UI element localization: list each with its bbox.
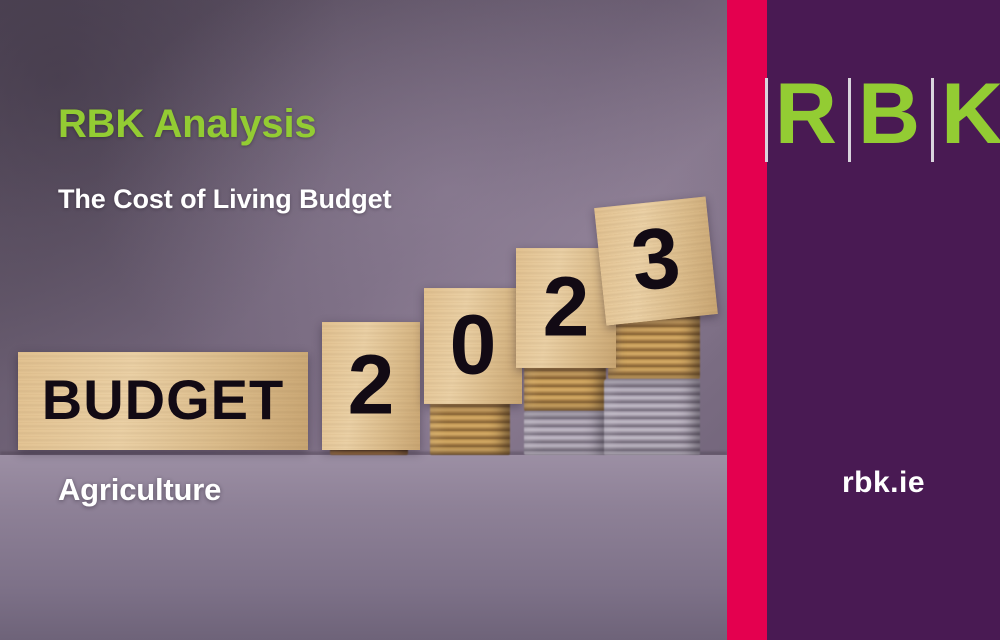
rbk-logo: R B K xyxy=(767,74,1000,156)
rbk-logo-letter-r: R xyxy=(765,74,836,156)
marketing-banner: BUDGET 2 0 2 3 RBK Analysis The Cost of … xyxy=(0,0,1000,640)
wooden-block-year-digit-4: 3 xyxy=(594,196,718,325)
brand-panel: R B K rbk.ie xyxy=(767,0,1000,640)
brand-website-url: rbk.ie xyxy=(767,466,1000,500)
wooden-block-year-digit-2: 0 xyxy=(424,288,522,404)
rbk-logo-letter-k: K xyxy=(931,74,1000,156)
wooden-block-budget: BUDGET xyxy=(18,352,308,450)
coin-stack-4-silver xyxy=(604,379,700,455)
wooden-block-year-digit-1: 2 xyxy=(322,322,420,450)
subheadline: The Cost of Living Budget xyxy=(58,186,391,213)
budget-photo: BUDGET 2 0 2 3 RBK Analysis The Cost of … xyxy=(0,0,727,640)
sector-label: Agriculture xyxy=(58,474,221,505)
wooden-block-digit-text: 0 xyxy=(450,302,497,386)
rbk-logo-letter-b: B xyxy=(848,74,919,156)
wooden-block-budget-text: BUDGET xyxy=(42,372,284,428)
headline: RBK Analysis xyxy=(58,104,316,144)
wooden-block-digit-text: 2 xyxy=(543,264,590,348)
coin-stack-3-silver xyxy=(524,411,606,455)
wooden-block-digit-text: 2 xyxy=(348,342,395,426)
accent-stripe xyxy=(727,0,767,640)
wooden-block-digit-text: 3 xyxy=(628,214,685,305)
